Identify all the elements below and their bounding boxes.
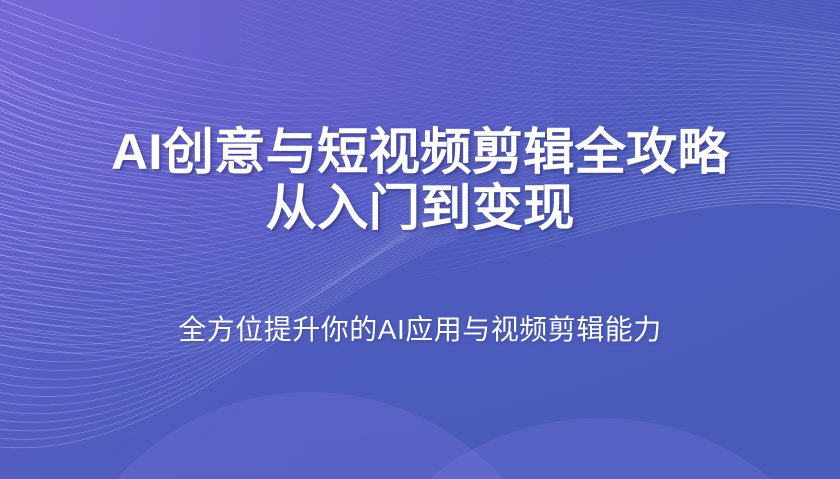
course-banner: AI创意与短视频剪辑全攻略 从入门到变现 全方位提升你的AI应用与视频剪辑能力 — [0, 0, 840, 479]
wave-mesh-decoration — [0, 0, 840, 479]
